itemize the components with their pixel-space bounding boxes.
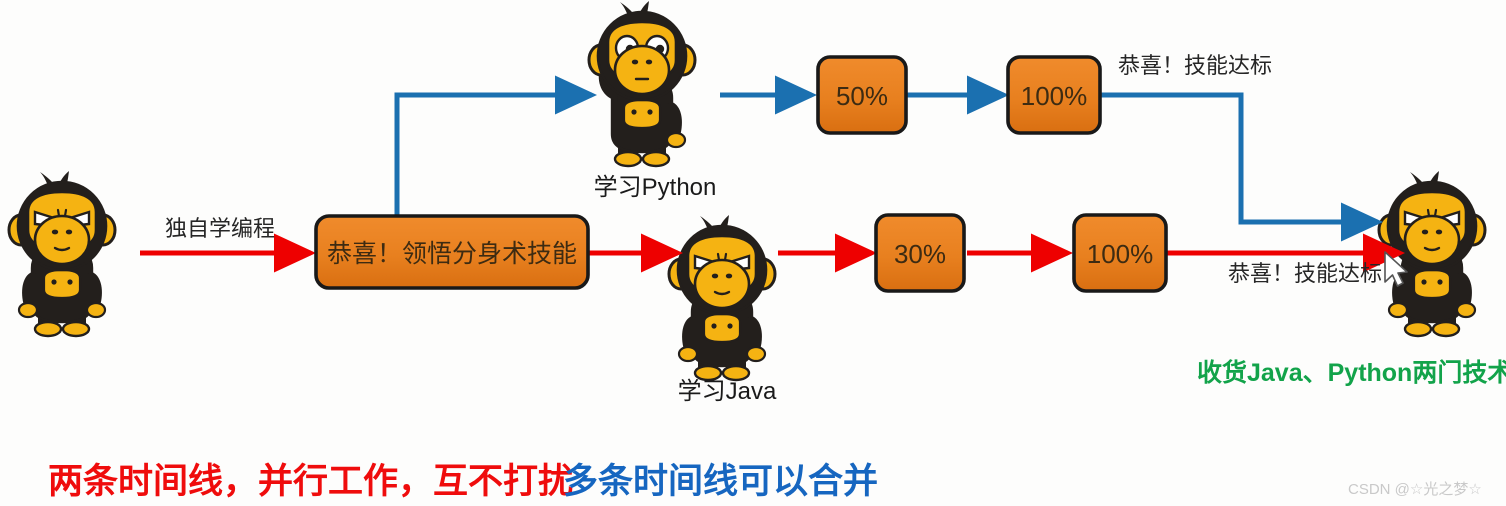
node-python-progress-1[interactable]: 50% <box>818 57 906 133</box>
caption-java-monkey: 学习Java <box>678 378 777 405</box>
diagram-svg: 恭喜！领悟分身术技能 50% 100% 30% 100% 独自学编程 恭喜！技能… <box>0 0 1506 506</box>
node-fork-box[interactable]: 恭喜！领悟分身术技能 <box>316 216 588 288</box>
node-python-progress-1-label: 50% <box>836 81 888 111</box>
annotation-green-result: 收货Java、Python两门技术 <box>1197 358 1506 387</box>
character-start-monkey <box>9 171 115 336</box>
character-python-monkey <box>589 1 695 166</box>
footer-red-text: 两条时间线，并行工作，互不打扰 <box>48 462 573 501</box>
watermark-label: CSDN @☆光之梦☆ <box>1348 481 1482 498</box>
flow-fork-to-python <box>397 95 592 216</box>
edge-label-start: 独自学编程 <box>165 216 275 241</box>
node-fork-box-label: 恭喜！领悟分身术技能 <box>327 240 577 268</box>
footer-blue-text: 多条时间线可以合并 <box>563 462 878 501</box>
node-java-progress-2[interactable]: 100% <box>1074 215 1166 291</box>
node-java-progress-1[interactable]: 30% <box>876 215 964 291</box>
node-java-progress-1-label: 30% <box>894 239 946 269</box>
node-python-progress-2[interactable]: 100% <box>1008 57 1100 133</box>
edge-label-bottom-done: 恭喜！技能达标 <box>1228 261 1382 286</box>
node-java-progress-2-label: 100% <box>1087 239 1154 269</box>
diagram-canvas: 恭喜！领悟分身术技能 50% 100% 30% 100% 独自学编程 恭喜！技能… <box>0 0 1506 506</box>
character-java-monkey <box>669 215 775 380</box>
node-python-progress-2-label: 100% <box>1021 81 1088 111</box>
flow-top-merge-to-end <box>1101 95 1378 222</box>
edge-label-top-done: 恭喜！技能达标 <box>1118 53 1272 78</box>
caption-python-monkey: 学习Python <box>594 174 717 201</box>
